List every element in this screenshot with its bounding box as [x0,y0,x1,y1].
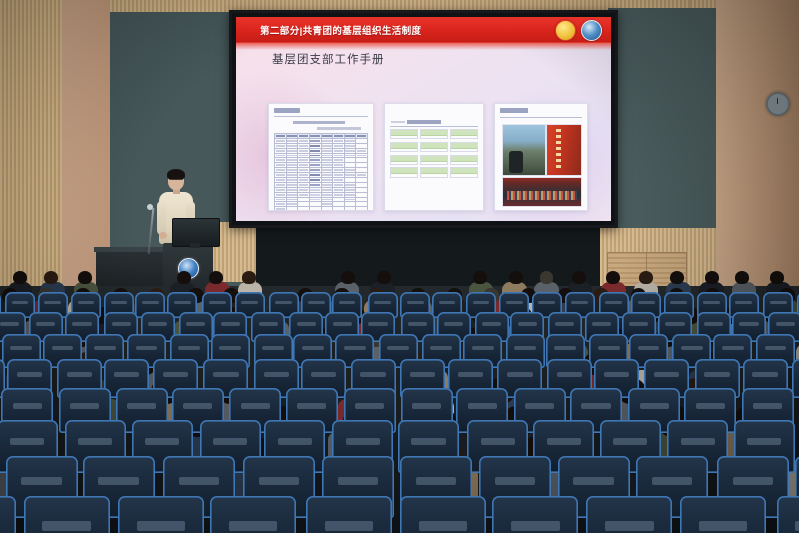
auditorium-seat [118,496,204,533]
projection-screen: 第二部分|共青团的基层组织生活制度 基层团支部工作手册 [229,10,618,228]
audience-member-head [377,271,391,284]
calendar-cell [390,167,418,177]
roster-subcaption [317,127,361,130]
audience-member-head [177,271,191,284]
slide-header-title: 第二部分|共青团的基层组织生活制度 [260,23,421,37]
auditorium-seat [586,496,672,533]
auditorium-seat [210,496,296,533]
auditorium-seat [777,496,799,533]
left-wall-wood-slats [0,0,62,300]
activity-photo-outdoor [502,124,546,176]
audience-member-head [242,271,256,284]
auditorium-seat [0,496,16,533]
slide-title: 基层团支部工作手册 [272,51,385,67]
auditorium-seat [24,496,110,533]
panel-label-mark [391,121,405,123]
audience-member-head [705,271,719,284]
university-seal-emblem-icon [581,20,602,41]
audience-member-head [770,271,784,284]
audience-member-head [341,271,355,284]
calendar-cell [450,155,478,165]
presenter-hand [159,232,167,239]
calendar-row [390,142,478,152]
audience-member-head [209,271,223,284]
wall-clock-icon [766,92,790,116]
calendar-cell [450,129,478,139]
panel-rule [274,116,368,117]
auditorium-seat [400,496,486,533]
calendar-row [390,155,478,165]
activity-photo-group [502,177,582,207]
panel-label-photos [500,108,528,113]
activity-photo-banner [546,124,582,176]
presentation-slide: 第二部分|共青团的基层组织生活制度 基层团支部工作手册 [236,17,611,221]
audience-member-head [473,271,487,284]
audience-member-head [735,271,749,284]
monitor-stand [190,243,200,248]
calendar-cell [420,155,448,165]
right-pillar [716,0,799,300]
calendar-row [390,167,478,177]
auditorium-seat [306,496,392,533]
auditorium-seat [680,496,766,533]
audience-member-head [78,271,92,284]
calendar-cell [450,142,478,152]
calendar-cell [390,129,418,139]
panel-label-roster [274,108,300,113]
plan-calendar-grid [390,129,478,180]
slide-header-logos [555,20,602,41]
audience-member-head [509,271,523,284]
table-row [275,207,368,211]
calendar-cell [420,129,448,139]
audience-member-head [540,271,554,284]
microphone-head-icon [147,204,153,210]
calendar-cell [450,167,478,177]
audience-member-head [13,271,27,284]
slide-panel-photos [494,103,588,211]
panel-rule [390,126,478,127]
slide-panel-roster [268,103,374,211]
audience-member-head [606,271,620,284]
calendar-cell [390,155,418,165]
slide-header-banner: 第二部分|共青团的基层组织生活制度 [236,17,611,43]
audience-member-head [44,271,58,284]
eyeglasses-icon [169,179,183,183]
communist-youth-league-emblem-icon [555,20,576,41]
auditorium-seat [492,496,578,533]
presenter-arm-left [157,201,166,235]
slide-panel-plan [384,103,484,211]
auditorium-photo: 第二部分|共青团的基层组织生活制度 基层团支部工作手册 [0,0,799,533]
calendar-row [390,129,478,139]
roster-caption [293,121,345,124]
panel-label-plan [407,120,441,124]
audience-member-head [639,271,653,284]
calendar-cell [420,167,448,177]
panel-rule [500,117,582,118]
roster-table [274,133,368,211]
audience-member-head [572,271,586,284]
audience-member-head [670,271,684,284]
right-dark-wall-panel [608,8,716,236]
calendar-cell [390,142,418,152]
calendar-cell [420,142,448,152]
